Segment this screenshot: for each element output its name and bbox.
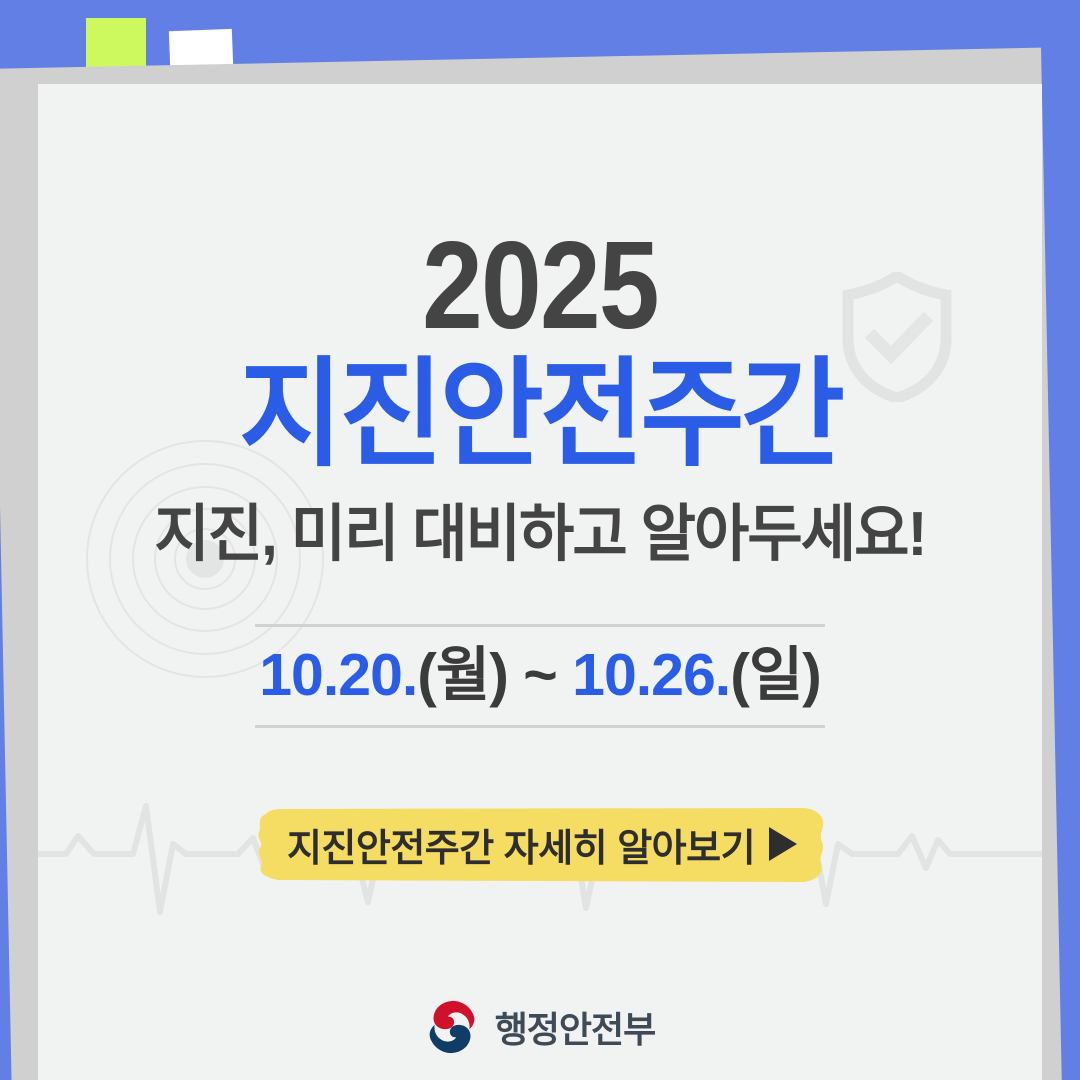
date-start-day: (월)	[417, 642, 508, 708]
date-separator: ~	[523, 642, 556, 708]
poster-canvas: 2025 지진안전주간 지진, 미리 대비하고 알아두세요! 10.20.(월)…	[0, 0, 1080, 1080]
main-card: 2025 지진안전주간 지진, 미리 대비하고 알아두세요! 10.20.(월)…	[38, 84, 1042, 1080]
play-triangle-icon	[769, 827, 797, 861]
page-title: 지진안전주간	[58, 356, 1022, 474]
poster-content: 2025 지진안전주간 지진, 미리 대비하고 알아두세요! 10.20.(월)…	[38, 84, 1042, 1080]
date-range: 10.20.(월) ~ 10.26.(일)	[255, 641, 825, 711]
subtitle: 지진, 미리 대비하고 알아두세요!	[53, 504, 1027, 566]
ministry-name: 행정안전부	[495, 1001, 656, 1053]
korea-government-taegeuk-icon	[425, 1000, 479, 1054]
learn-more-button[interactable]: 지진안전주간 자세히 알아보기	[252, 802, 832, 886]
cta-label: 지진안전주간 자세히 알아보기	[287, 817, 755, 872]
footer-logo: 행정안전부	[38, 1000, 1042, 1054]
date-end-day: (일)	[730, 642, 821, 708]
date-start-number: 10.20.	[259, 642, 417, 708]
date-range-block: 10.20.(월) ~ 10.26.(일)	[255, 624, 825, 728]
cta-area: 지진안전주간 자세히 알아보기	[38, 802, 1042, 898]
date-end-number: 10.26.	[572, 642, 730, 708]
year-heading: 2025	[98, 224, 982, 348]
